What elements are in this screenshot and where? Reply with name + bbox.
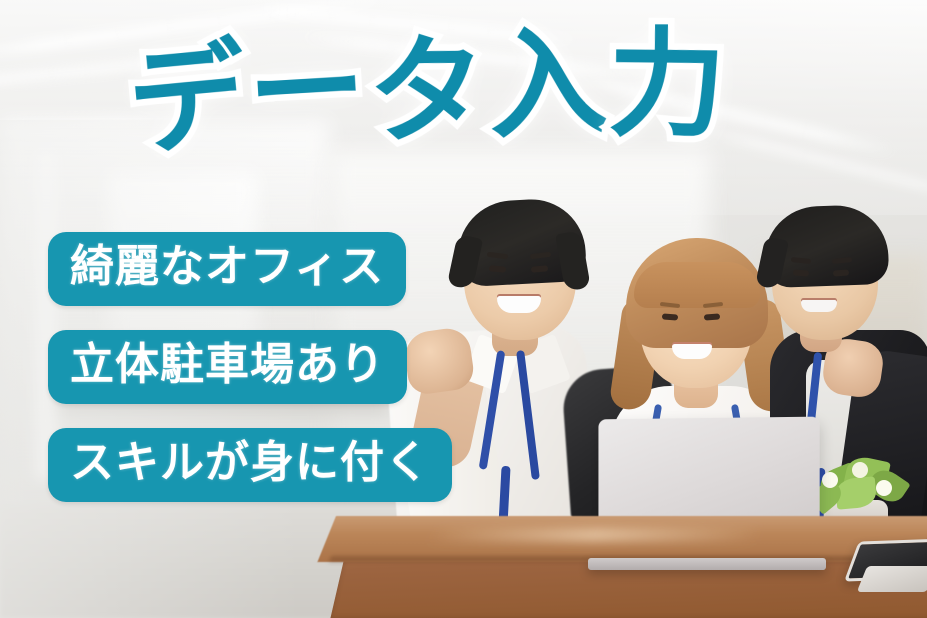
title-char: 入 [484,19,611,150]
woman-eye [704,313,720,320]
plant-flower [822,472,838,488]
desk-highlight [427,528,762,542]
laptop-base [588,558,826,570]
title-char: タ [368,30,489,155]
job-ad-banner: データ入力 綺麗なオフィス 立体駐車場あり スキルが身に付く [0,0,927,618]
plant-flower [876,480,892,496]
man-left-smile [497,296,541,313]
feature-badge-list: 綺麗なオフィス 立体駐車場あり スキルが身に付く [48,232,452,502]
tablet-stand [857,566,927,592]
feature-badge-skills: スキルが身に付く [48,428,452,502]
feature-badge-clean-office: 綺麗なオフィス [48,232,406,306]
woman-smile [672,344,712,359]
woman-eye [662,313,678,320]
title-char: ー [244,25,371,156]
man-right-smile [801,300,837,312]
page-title: データ入力 [127,21,730,160]
feature-badge-parking: 立体駐車場あり [48,330,407,404]
man-right-eye [793,269,809,276]
title-char: 力 [607,23,728,148]
woman-bangs [634,262,760,308]
man-right-eye [833,269,849,276]
title-char: デ [123,32,254,167]
plant-flower [852,462,868,478]
